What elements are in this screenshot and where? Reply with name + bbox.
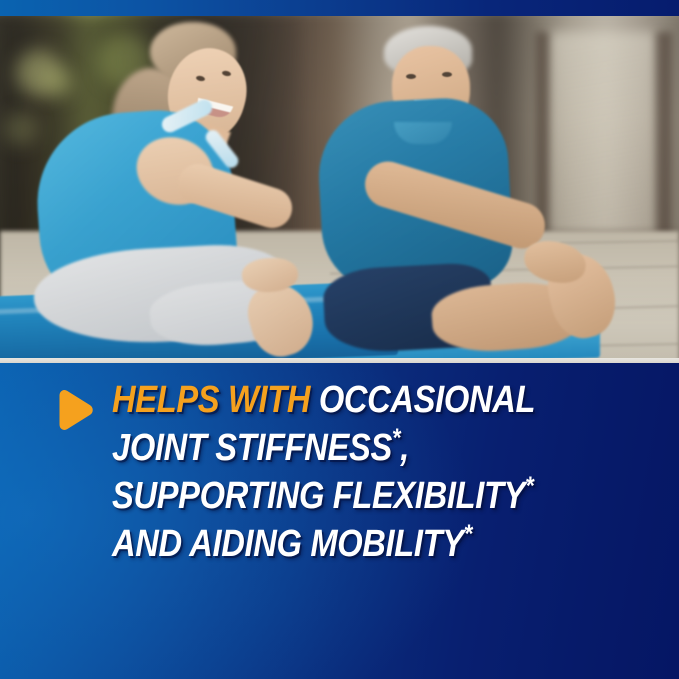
headline-segment-white: SUPPORTING FLEXIBILITY	[112, 475, 525, 517]
headline-line-2: JOINT STIFFNESS*,	[112, 424, 535, 472]
headline-line-3: SUPPORTING FLEXIBILITY*	[112, 472, 535, 520]
asterisk-marker: *	[464, 518, 472, 548]
headline-segment-orange: HELPS WITH	[112, 379, 319, 421]
headline-line-4: AND AIDING MOBILITY*	[112, 520, 535, 568]
man-eye	[442, 72, 452, 77]
headline-comma: ,	[400, 427, 409, 469]
top-blue-strip	[0, 0, 679, 16]
play-triangle-icon	[52, 388, 96, 432]
woman-figure	[0, 16, 340, 363]
headline-block: HELPS WITH OCCASIONAL JOINT STIFFNESS*, …	[112, 376, 604, 568]
headline-line-1: HELPS WITH OCCASIONAL	[112, 376, 535, 424]
lifestyle-photo	[0, 16, 679, 363]
man-figure	[336, 16, 679, 363]
headline-segment-white: AND AIDING MOBILITY	[112, 523, 464, 565]
headline-segment-white: JOINT STIFFNESS	[112, 427, 392, 469]
asterisk-marker: *	[525, 470, 533, 500]
advertisement-banner: HELPS WITH OCCASIONAL JOINT STIFFNESS*, …	[0, 0, 679, 679]
man-eye	[406, 74, 416, 79]
asterisk-marker: *	[392, 422, 400, 452]
photo-bottom-edge	[0, 358, 679, 363]
headline-segment-white: OCCASIONAL	[319, 379, 535, 421]
